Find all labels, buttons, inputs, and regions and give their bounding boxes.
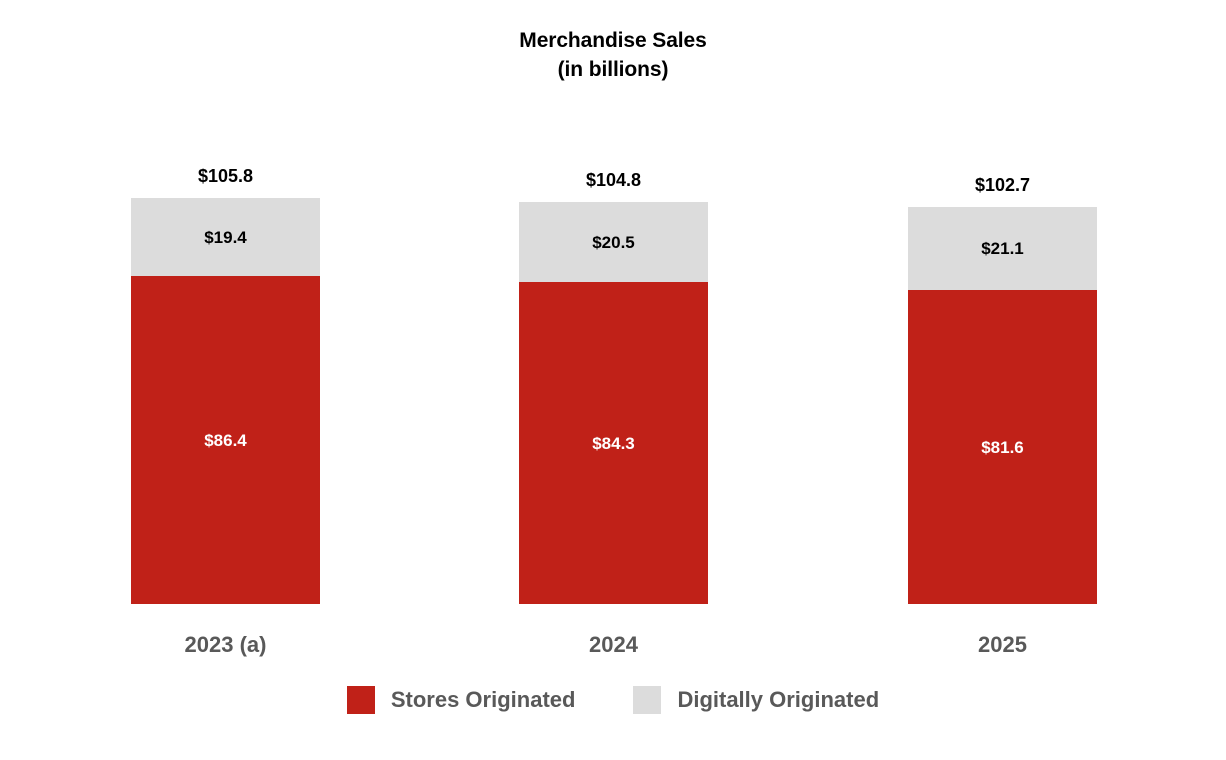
chart-legend: Stores Originated Digitally Originated [0,686,1226,714]
legend-label: Digitally Originated [677,689,879,711]
category-label-2025: 2025 [908,632,1097,658]
bar-total-label: $104.8 [519,170,708,191]
bar-segment-stores-originated[interactable]: $84.3 [519,282,708,604]
bar-stack: $20.5 $84.3 [519,202,708,604]
bar-segment-digitally-originated[interactable]: $20.5 [519,202,708,282]
bar-total-label: $105.8 [131,166,320,187]
bar-segment-value: $20.5 [592,234,635,251]
bar-group-2025: $102.7 $21.1 $81.6 2025 [908,207,1097,604]
bar-total-label: $102.7 [908,175,1097,196]
bar-segment-stores-originated[interactable]: $86.4 [131,276,320,604]
bar-segment-value: $86.4 [204,432,247,449]
category-label-2024: 2024 [519,632,708,658]
category-label-2023: 2023 (a) [131,632,320,658]
bar-segment-digitally-originated[interactable]: $21.1 [908,207,1097,290]
bar-stack: $21.1 $81.6 [908,207,1097,604]
bar-segment-digitally-originated[interactable]: $19.4 [131,198,320,276]
legend-item-stores-originated[interactable]: Stores Originated [347,686,576,714]
bar-segment-stores-originated[interactable]: $81.6 [908,290,1097,604]
bar-stack: $19.4 $86.4 [131,198,320,604]
bar-segment-value: $21.1 [981,240,1024,257]
bar-group-2023: $105.8 $19.4 $86.4 2023 (a) [131,198,320,604]
plot-area: $105.8 $19.4 $86.4 2023 (a) $104.8 $20.5… [0,0,1226,760]
bar-segment-value: $19.4 [204,229,247,246]
bar-group-2024: $104.8 $20.5 $84.3 2024 [519,202,708,604]
legend-label: Stores Originated [391,689,576,711]
legend-item-digitally-originated[interactable]: Digitally Originated [633,686,879,714]
legend-swatch-icon [347,686,375,714]
legend-swatch-icon [633,686,661,714]
bar-segment-value: $84.3 [592,435,635,452]
bar-segment-value: $81.6 [981,439,1024,456]
merchandise-sales-chart: Merchandise Sales (in billions) $105.8 $… [0,0,1226,760]
